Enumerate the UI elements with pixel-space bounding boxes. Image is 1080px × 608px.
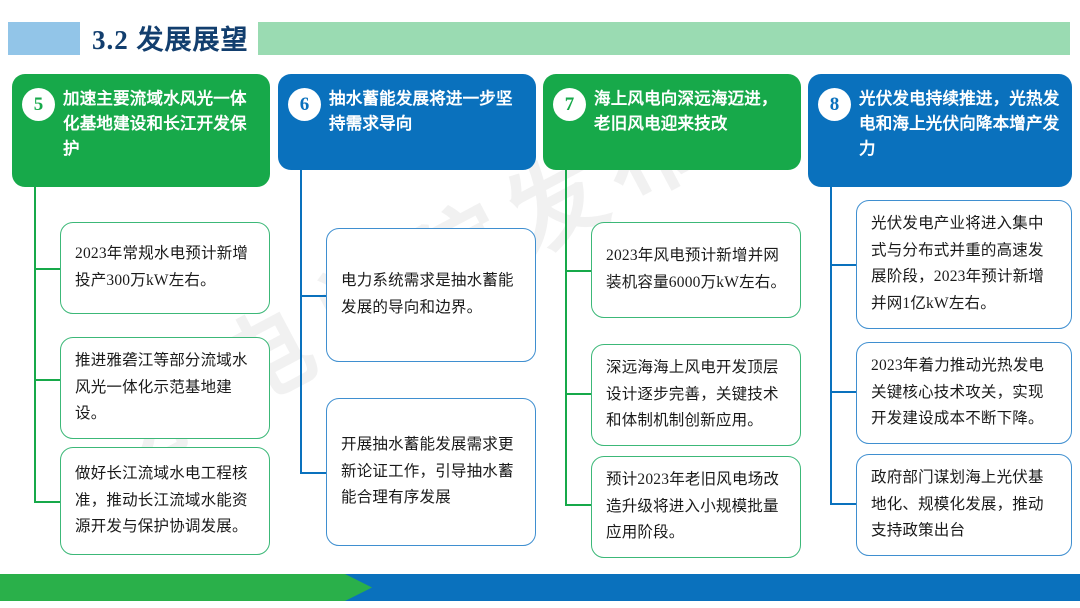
card-number-badge: 5 (22, 88, 55, 121)
content-box[interactable]: 开展抽水蓄能发展需求更新论证工作，引导抽水蓄能合理有序发展 (326, 398, 536, 546)
slide-canvas: 水电总院发布 3.2 发展展望 5加速主要流域水风光一体化基地建设和长江开发保护… (0, 0, 1080, 608)
card-number-badge: 6 (288, 88, 321, 121)
card-title: 加速主要流域水风光一体化基地建设和长江开发保护 (63, 87, 258, 161)
content-box[interactable]: 推进雅砻江等部分流域水风光一体化示范基地建设。 (60, 337, 270, 439)
content-box[interactable]: 2023年风电预计新增并网装机容量6000万kW左右。 (591, 222, 801, 318)
header-green-block (258, 22, 1070, 55)
content-box-text: 电力系统需求是抽水蓄能发展的导向和边界。 (341, 268, 523, 321)
connector-stub (565, 504, 593, 506)
connector-stub (300, 472, 328, 474)
content-box[interactable]: 政府部门谋划海上光伏基地化、规模化发展，推动支持政策出台 (856, 454, 1072, 556)
card-number-badge: 8 (818, 88, 851, 121)
connector-stub (300, 295, 328, 297)
card-header-8[interactable]: 8光伏发电持续推进，光热发电和海上光伏向降本增产发力 (808, 74, 1072, 187)
content-box-text: 开展抽水蓄能发展需求更新论证工作，引导抽水蓄能合理有序发展 (341, 432, 523, 512)
connector-stub (565, 270, 593, 272)
content-box-text: 2023年常规水电预计新增投产300万kW左右。 (75, 241, 257, 294)
footer-bar (0, 574, 1080, 601)
slide-header: 3.2 发展展望 (0, 13, 1080, 53)
connector-trunk (34, 187, 36, 501)
card-title: 海上风电向深远海迈进，老旧风电迎来技改 (594, 87, 789, 137)
connector-stub (34, 501, 62, 503)
content-box-text: 深远海海上风电开发顶层设计逐步完善，关键技术和体制机制创新应用。 (606, 355, 788, 435)
content-box[interactable]: 做好长江流域水电工程核准，推动长江流域水能资源开发与保护协调发展。 (60, 447, 270, 555)
content-box-text: 预计2023年老旧风电场改造升级将进入小规模批量应用阶段。 (606, 467, 788, 547)
content-box[interactable]: 电力系统需求是抽水蓄能发展的导向和边界。 (326, 228, 536, 362)
footer-green-arrow (0, 574, 372, 601)
header-blue-block (8, 22, 80, 55)
card-number-badge: 7 (553, 88, 586, 121)
card-title: 抽水蓄能发展将进一步坚持需求导向 (329, 87, 524, 137)
content-box[interactable]: 深远海海上风电开发顶层设计逐步完善，关键技术和体制机制创新应用。 (591, 344, 801, 446)
content-box-text: 做好长江流域水电工程核准，推动长江流域水能资源开发与保护协调发展。 (75, 461, 257, 541)
card-title: 光伏发电持续推进，光热发电和海上光伏向降本增产发力 (859, 87, 1060, 161)
content-box-text: 2023年着力推动光热发电关键核心技术攻关，实现开发建设成本不断下降。 (871, 353, 1059, 433)
content-box-text: 推进雅砻江等部分流域水风光一体化示范基地建设。 (75, 348, 257, 428)
content-box[interactable]: 光伏发电产业将进入集中式与分布式并重的高速发展阶段，2023年预计新增并网1亿k… (856, 200, 1072, 329)
page-title: 3.2 发展展望 (92, 18, 249, 57)
connector-stub (565, 393, 593, 395)
connector-trunk (830, 187, 832, 503)
content-box[interactable]: 预计2023年老旧风电场改造升级将进入小规模批量应用阶段。 (591, 456, 801, 558)
content-box-text: 2023年风电预计新增并网装机容量6000万kW左右。 (606, 243, 788, 296)
connector-stub (34, 268, 62, 270)
content-box[interactable]: 2023年着力推动光热发电关键核心技术攻关，实现开发建设成本不断下降。 (856, 342, 1072, 444)
content-box-text: 政府部门谋划海上光伏基地化、规模化发展，推动支持政策出台 (871, 465, 1059, 545)
card-header-5[interactable]: 5加速主要流域水风光一体化基地建设和长江开发保护 (12, 74, 270, 187)
content-box-text: 光伏发电产业将进入集中式与分布式并重的高速发展阶段，2023年预计新增并网1亿k… (871, 211, 1059, 318)
connector-trunk (565, 170, 567, 504)
connector-trunk (300, 170, 302, 472)
card-header-7[interactable]: 7海上风电向深远海迈进，老旧风电迎来技改 (543, 74, 801, 170)
connector-stub (830, 391, 858, 393)
card-header-6[interactable]: 6抽水蓄能发展将进一步坚持需求导向 (278, 74, 536, 170)
connector-stub (830, 503, 858, 505)
content-box[interactable]: 2023年常规水电预计新增投产300万kW左右。 (60, 222, 270, 314)
connector-stub (830, 264, 858, 266)
connector-stub (34, 379, 62, 381)
